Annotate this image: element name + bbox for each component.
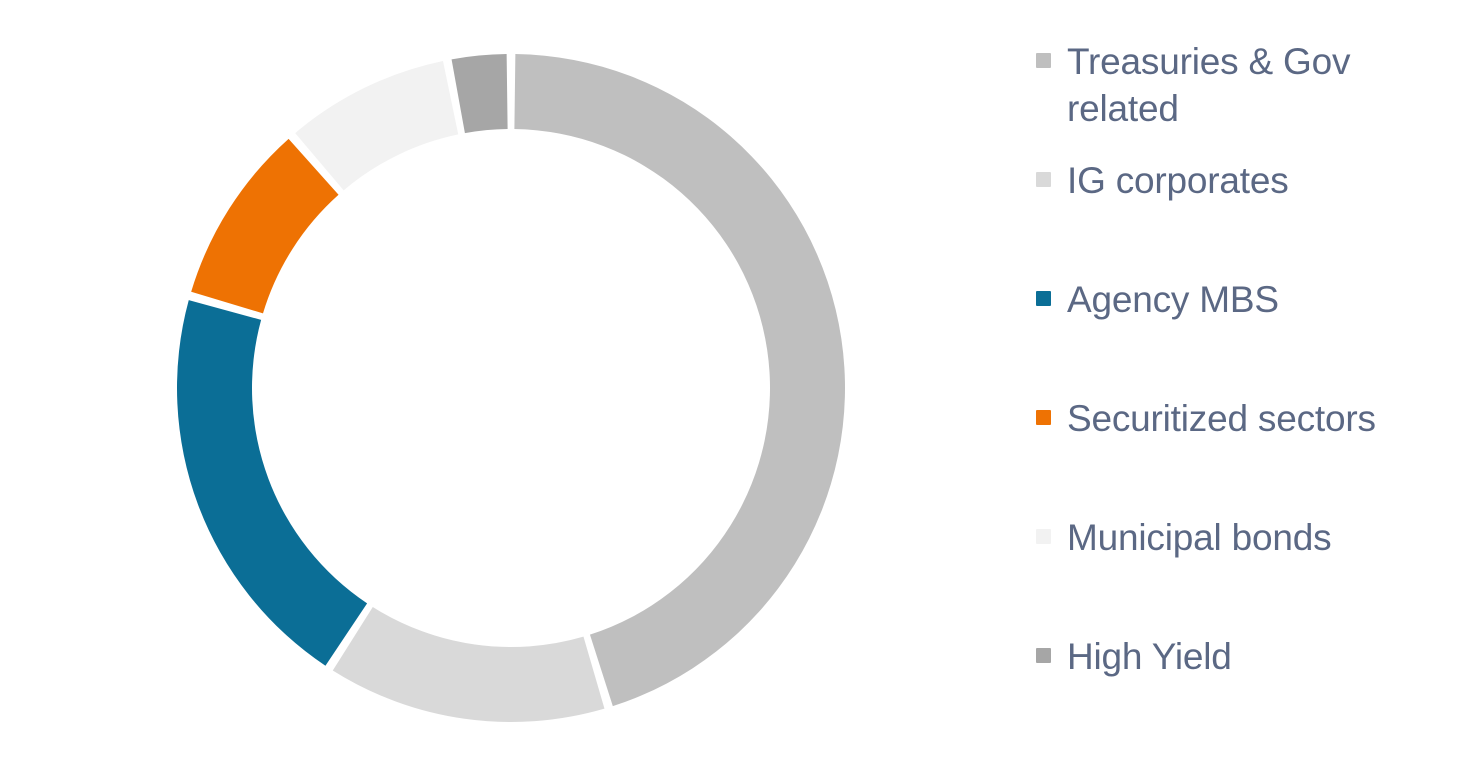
- legend-item-label: IG corporates: [1067, 157, 1289, 204]
- legend-item[interactable]: Agency MBS: [1036, 276, 1456, 395]
- chart-area: [0, 0, 1010, 780]
- donut-chart: [0, 0, 1010, 780]
- legend-item-label: Agency MBS: [1067, 276, 1279, 323]
- legend-item-label: Treasuries & Gov related: [1067, 38, 1350, 132]
- donut-slice[interactable]: [452, 54, 508, 133]
- legend-item-label: High Yield: [1067, 633, 1232, 680]
- legend-swatch-icon: [1036, 291, 1051, 306]
- legend-item[interactable]: Treasuries & Gov related: [1036, 38, 1456, 157]
- donut-slice[interactable]: [295, 61, 458, 190]
- legend-swatch-icon: [1036, 53, 1051, 68]
- legend-swatch-icon: [1036, 529, 1051, 544]
- donut-slice[interactable]: [191, 139, 338, 314]
- legend-item-label: Municipal bonds: [1067, 514, 1331, 561]
- legend-item[interactable]: Securitized sectors: [1036, 395, 1456, 514]
- donut-slice[interactable]: [514, 54, 845, 706]
- legend-swatch-icon: [1036, 410, 1051, 425]
- chart-legend: Treasuries & Gov relatedIG corporatesAge…: [1036, 38, 1456, 752]
- legend-swatch-icon: [1036, 172, 1051, 187]
- legend-item[interactable]: Municipal bonds: [1036, 514, 1456, 633]
- donut-slice[interactable]: [177, 300, 367, 666]
- legend-item-label: Securitized sectors: [1067, 395, 1376, 442]
- legend-swatch-icon: [1036, 648, 1051, 663]
- donut-slice[interactable]: [333, 607, 605, 722]
- legend-item[interactable]: High Yield: [1036, 633, 1456, 752]
- donut-chart-page: Treasuries & Gov relatedIG corporatesAge…: [0, 0, 1463, 780]
- legend-item[interactable]: IG corporates: [1036, 157, 1456, 276]
